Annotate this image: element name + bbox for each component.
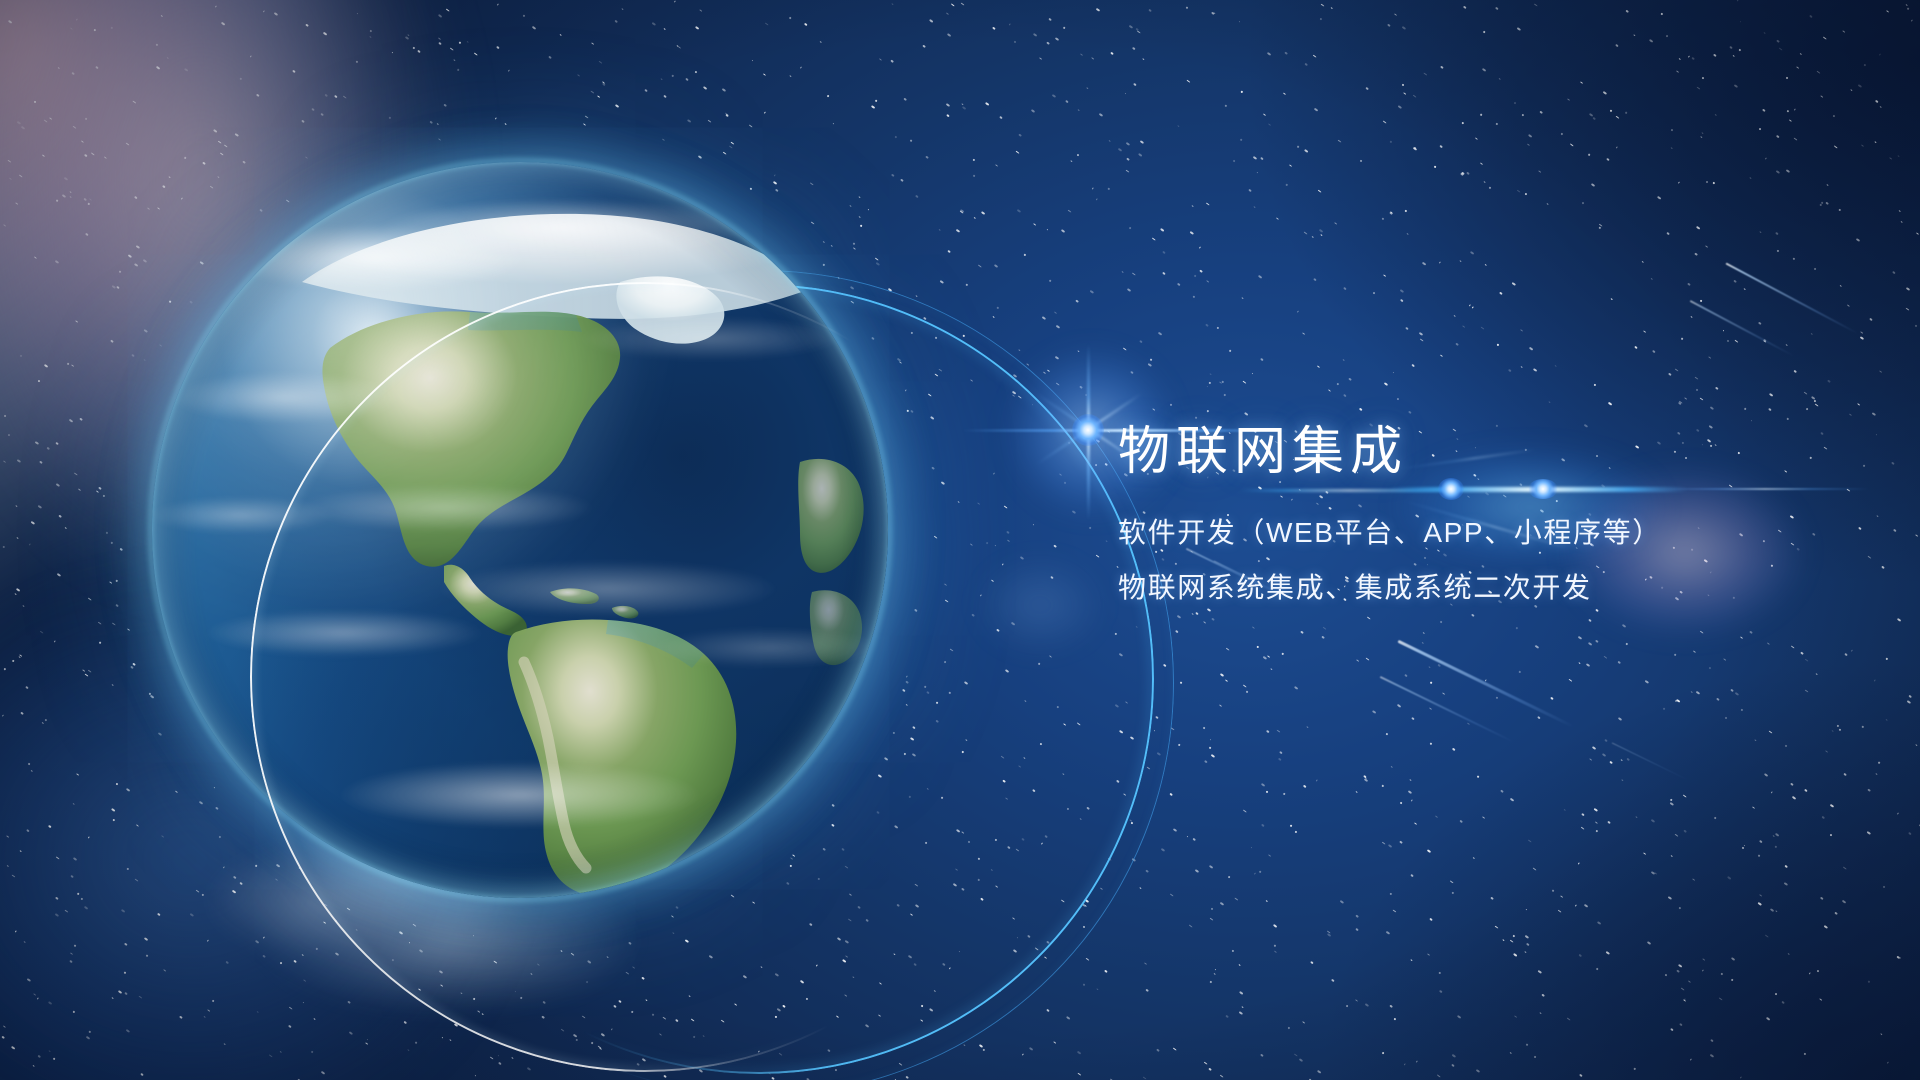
page-title: 物联网集成	[1118, 424, 1878, 480]
flare-core-left	[1072, 414, 1104, 446]
hero-copy: 物联网集成 软件开发（WEB平台、APP、小程序等） 物联网系统集成、集成系统二…	[1118, 424, 1878, 616]
soft-flare-lower	[980, 560, 1100, 650]
earth-globe	[152, 162, 888, 898]
globe-atmosphere-rim	[149, 159, 891, 901]
subtitle-line-1: 软件开发（WEB平台、APP、小程序等）	[1118, 506, 1878, 561]
subtitle-line-2: 物联网系统集成、集成系统二次开发	[1118, 561, 1878, 616]
subtitle-group: 软件开发（WEB平台、APP、小程序等） 物联网系统集成、集成系统二次开发	[1118, 506, 1878, 616]
hero-banner: 物联网集成 软件开发（WEB平台、APP、小程序等） 物联网系统集成、集成系统二…	[0, 0, 1920, 1080]
